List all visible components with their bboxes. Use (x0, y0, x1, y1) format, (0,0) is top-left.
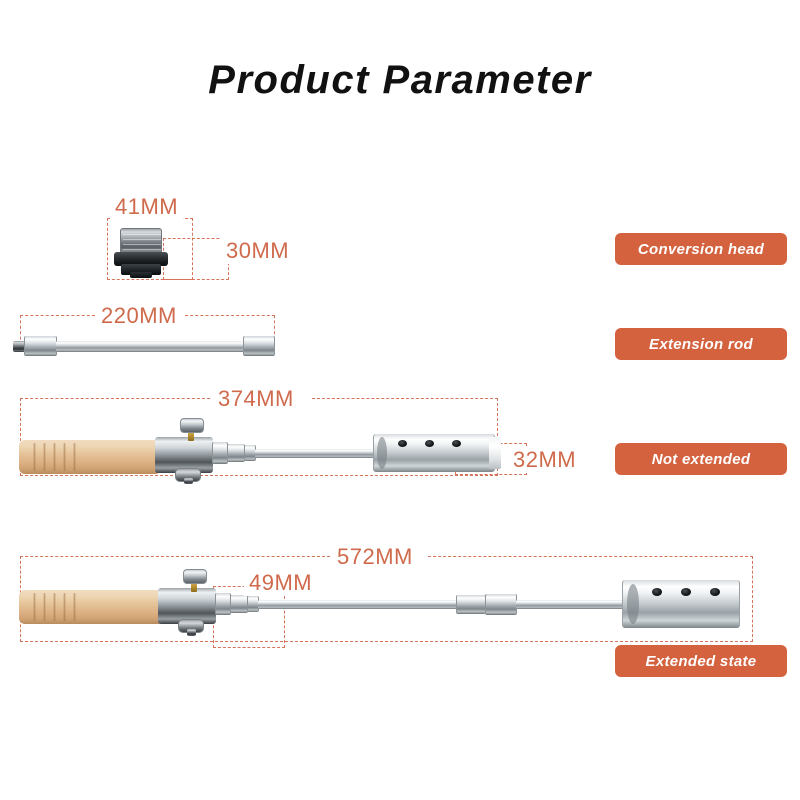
badge-extended-state[interactable]: Extended state (615, 645, 787, 677)
dimension-bracket-374mm-top-right (312, 398, 498, 399)
page-title: Product Parameter (0, 58, 800, 103)
chrome-shaft-long-2 (516, 600, 626, 609)
burner-hole (398, 440, 407, 447)
badge-extension-rod-label: Extension rod (649, 336, 753, 353)
dimension-label-49mm: 49MM (244, 570, 317, 596)
chrome-shaft-short (255, 449, 375, 458)
dimension-label-30mm: 30MM (221, 238, 294, 264)
dimension-bracket-220mm-top-left (20, 315, 95, 316)
burner-hole (681, 588, 691, 596)
dimension-bracket-374mm-top-left (20, 398, 210, 399)
badge-extension-rod[interactable]: Extension rod (615, 328, 787, 360)
dimension-bracket-572mm-right (752, 556, 753, 642)
chrome-shaft-long-1 (258, 600, 458, 609)
product-parameter-diagram: Product Parameter 41MM 30MM Conversion h… (0, 0, 800, 800)
dimension-label-220mm: 220MM (96, 303, 182, 329)
extension-coupler (456, 595, 486, 614)
wooden-handle-short (19, 440, 159, 474)
burner-head-short (373, 434, 495, 472)
badge-conversion-head-label: Conversion head (638, 241, 764, 258)
burner-hole (652, 588, 662, 596)
valve-top-knob-short (180, 418, 204, 433)
dimension-label-374mm: 374MM (213, 386, 299, 412)
dimension-label-572mm: 572MM (332, 544, 418, 570)
burner-hole (425, 440, 434, 447)
dimension-bracket-220mm-top-right (185, 315, 275, 316)
burner-hole (710, 588, 720, 596)
burner-hole (452, 440, 461, 447)
valve-top-knob-long (183, 569, 207, 584)
badge-not-extended-label: Not extended (652, 451, 751, 468)
dimension-bracket-374mm-bottom (20, 475, 498, 476)
dimension-box-30mm (163, 238, 229, 280)
badge-not-extended[interactable]: Not extended (615, 443, 787, 475)
dimension-label-32mm: 32MM (508, 447, 581, 473)
dimension-bracket-572mm-top-right (428, 556, 753, 557)
dimension-bracket-572mm-bottom (20, 641, 753, 642)
wooden-handle-long (19, 590, 162, 624)
dimension-bracket-572mm-top-left (20, 556, 330, 557)
burner-head-long (622, 580, 740, 628)
dimension-label-41mm: 41MM (110, 194, 183, 220)
badge-extended-state-label: Extended state (646, 653, 757, 670)
badge-conversion-head[interactable]: Conversion head (615, 233, 787, 265)
